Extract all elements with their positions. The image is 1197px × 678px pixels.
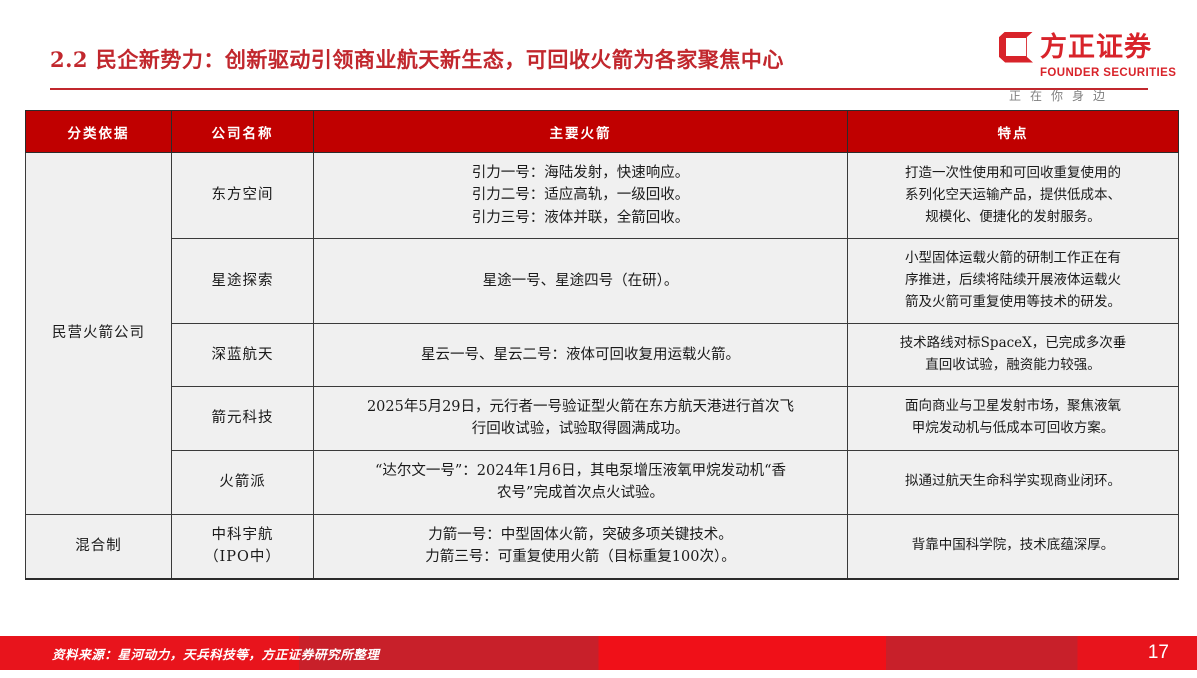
table-row: 火箭派 “达尔文一号”：2024年1月6日，其电泵增压液氧甲烷发动机“香 农号”…	[26, 450, 1179, 514]
feature-line: 拟通过航天生命科学实现商业闭环。	[862, 471, 1164, 493]
feature-line: 规模化、便捷化的发射服务。	[862, 207, 1164, 229]
column-header-category: 分类依据	[26, 111, 172, 153]
feature-line: 面向商业与卫星发射市场，聚焦液氧	[862, 396, 1164, 418]
rockets-cell: 力箭一号：中型固体火箭，突破多项关键技术。 力箭三号：可重复使用火箭（目标重复1…	[314, 514, 848, 578]
rocket-line: 2025年5月29日，元行者一号验证型火箭在东方航天港进行首次飞	[330, 396, 831, 418]
rocket-line: 行回收试验，试验取得圆满成功。	[330, 418, 831, 440]
feature-line: 小型固体运载火箭的研制工作正在有	[862, 248, 1164, 270]
rocket-lines: “达尔文一号”：2024年1月6日，其电泵增压液氧甲烷发动机“香 农号”完成首次…	[330, 460, 831, 505]
rockets-cell: 2025年5月29日，元行者一号验证型火箭在东方航天港进行首次飞 行回收试验，试…	[314, 386, 848, 450]
column-header-features: 特点	[848, 111, 1179, 153]
table-row: 深蓝航天 星云一号、星云二号：液体可回收复用运载火箭。 技术路线对标SpaceX…	[26, 323, 1179, 386]
rocket-lines: 引力一号：海陆发射，快速响应。 引力二号：适应高轨，一级回收。 引力三号：液体并…	[330, 162, 831, 229]
feature-line: 箭及火箭可重复使用等技术的研发。	[862, 292, 1164, 314]
table-row: 箭元科技 2025年5月29日，元行者一号验证型火箭在东方航天港进行首次飞 行回…	[26, 386, 1179, 450]
table-row: 星途探索 星途一号、星途四号（在研）。 小型固体运载火箭的研制工作正在有 序推进…	[26, 239, 1179, 324]
rocket-line: 力箭一号：中型固体火箭，突破多项关键技术。	[330, 524, 831, 546]
features-cell: 背靠中国科学院，技术底蕴深厚。	[848, 514, 1179, 578]
founder-securities-logo: 方正证券 FOUNDER SECURITIES 正在你身边	[999, 30, 1179, 92]
feature-line: 甲烷发动机与低成本可回收方案。	[862, 418, 1164, 440]
company-line: 深蓝航天	[182, 344, 303, 366]
feature-lines: 背靠中国科学院，技术底蕴深厚。	[862, 535, 1164, 557]
category-cell-mixed: 混合制	[26, 514, 172, 578]
feature-line: 系列化空天运输产品，提供低成本、	[862, 185, 1164, 207]
feature-line: 直回收试验，融资能力较强。	[862, 355, 1164, 377]
feature-line: 序推进，后续将陆续开展液体运载火	[862, 270, 1164, 292]
company-line: 箭元科技	[182, 407, 303, 429]
company-cell: 中科宇航 （IPO中）	[172, 514, 314, 578]
feature-lines: 技术路线对标SpaceX，已完成多次垂 直回收试验，融资能力较强。	[862, 333, 1164, 377]
feature-lines: 面向商业与卫星发射市场，聚焦液氧 甲烷发动机与低成本可回收方案。	[862, 396, 1164, 440]
rocket-lines: 星云一号、星云二号：液体可回收复用运载火箭。	[330, 344, 831, 366]
table-header-row: 分类依据 公司名称 主要火箭 特点	[26, 111, 1179, 153]
company-cell: 东方空间	[172, 153, 314, 239]
feature-lines: 小型固体运载火箭的研制工作正在有 序推进，后续将陆续开展液体运载火 箭及火箭可重…	[862, 248, 1164, 314]
page-title: 2.2 民企新势力：创新驱动引领商业航天新生态，可回收火箭为各家聚焦中心	[50, 44, 784, 74]
table-row: 混合制 中科宇航 （IPO中） 力箭一号：中型固体火箭，突破多项关键技术。 力箭…	[26, 514, 1179, 578]
rocket-line: 星途一号、星途四号（在研）。	[330, 270, 831, 292]
company-cell: 星途探索	[172, 239, 314, 324]
features-cell: 技术路线对标SpaceX，已完成多次垂 直回收试验，融资能力较强。	[848, 323, 1179, 386]
rocket-lines: 2025年5月29日，元行者一号验证型火箭在东方航天港进行首次飞 行回收试验，试…	[330, 396, 831, 441]
rocket-line: 引力三号：液体并联，全箭回收。	[330, 207, 831, 229]
feature-line: 打造一次性使用和可回收重复使用的	[862, 163, 1164, 185]
rocket-line: 星云一号、星云二号：液体可回收复用运载火箭。	[330, 344, 831, 366]
company-lines: 箭元科技	[182, 407, 303, 429]
rockets-cell: 引力一号：海陆发射，快速响应。 引力二号：适应高轨，一级回收。 引力三号：液体并…	[314, 153, 848, 239]
logo-name-cn: 方正证券	[1040, 34, 1152, 61]
category-cell-private: 民营火箭公司	[26, 153, 172, 515]
company-line: 中科宇航	[182, 524, 303, 546]
company-cell: 箭元科技	[172, 386, 314, 450]
rocket-line: 农号”完成首次点火试验。	[330, 482, 831, 504]
rocket-line: 力箭三号：可重复使用火箭（目标重复100次）。	[330, 546, 831, 568]
company-lines: 深蓝航天	[182, 344, 303, 366]
company-line: （IPO中）	[182, 546, 303, 568]
features-cell: 小型固体运载火箭的研制工作正在有 序推进，后续将陆续开展液体运载火 箭及火箭可重…	[848, 239, 1179, 324]
feature-lines: 拟通过航天生命科学实现商业闭环。	[862, 471, 1164, 493]
page-number: 17	[1148, 636, 1169, 670]
rockets-cell: “达尔文一号”：2024年1月6日，其电泵增压液氧甲烷发动机“香 农号”完成首次…	[314, 450, 848, 514]
rockets-cell: 星途一号、星途四号（在研）。	[314, 239, 848, 324]
commercial-rocket-companies-table: 分类依据 公司名称 主要火箭 特点 民营火箭公司 东方空间 引力一号：海陆发射，…	[25, 110, 1179, 580]
company-line: 火箭派	[182, 471, 303, 493]
features-cell: 打造一次性使用和可回收重复使用的 系列化空天运输产品，提供低成本、 规模化、便捷…	[848, 153, 1179, 239]
logo-name-en: FOUNDER SECURITIES	[1040, 67, 1179, 79]
company-lines: 东方空间	[182, 184, 303, 206]
company-cell: 深蓝航天	[172, 323, 314, 386]
rocket-line: 引力二号：适应高轨，一级回收。	[330, 184, 831, 206]
footer-bar: 资料来源：星河动力，天兵科技等，方正证券研究所整理 17	[0, 636, 1197, 670]
rocket-line: “达尔文一号”：2024年1月6日，其电泵增压液氧甲烷发动机“香	[330, 460, 831, 482]
rocket-line: 引力一号：海陆发射，快速响应。	[330, 162, 831, 184]
title-underline-rule	[50, 88, 1148, 90]
company-line: 东方空间	[182, 184, 303, 206]
feature-line: 背靠中国科学院，技术底蕴深厚。	[862, 535, 1164, 557]
company-cell: 火箭派	[172, 450, 314, 514]
rocket-lines: 力箭一号：中型固体火箭，突破多项关键技术。 力箭三号：可重复使用火箭（目标重复1…	[330, 524, 831, 569]
rocket-lines: 星途一号、星途四号（在研）。	[330, 270, 831, 292]
table-body: 民营火箭公司 东方空间 引力一号：海陆发射，快速响应。 引力二号：适应高轨，一级…	[26, 153, 1179, 579]
founder-logo-mark-icon	[999, 32, 1033, 63]
logo-primary-row: 方正证券	[999, 30, 1179, 64]
features-cell: 面向商业与卫星发射市场，聚焦液氧 甲烷发动机与低成本可回收方案。	[848, 386, 1179, 450]
feature-line: 技术路线对标SpaceX，已完成多次垂	[862, 333, 1164, 355]
company-lines: 中科宇航 （IPO中）	[182, 524, 303, 569]
features-cell: 拟通过航天生命科学实现商业闭环。	[848, 450, 1179, 514]
company-lines: 火箭派	[182, 471, 303, 493]
company-lines: 星途探索	[182, 270, 303, 292]
logo-tagline: 正在你身边	[1009, 87, 1179, 104]
company-line: 星途探索	[182, 270, 303, 292]
column-header-rockets: 主要火箭	[314, 111, 848, 153]
feature-lines: 打造一次性使用和可回收重复使用的 系列化空天运输产品，提供低成本、 规模化、便捷…	[862, 163, 1164, 229]
rockets-cell: 星云一号、星云二号：液体可回收复用运载火箭。	[314, 323, 848, 386]
table-row: 民营火箭公司 东方空间 引力一号：海陆发射，快速响应。 引力二号：适应高轨，一级…	[26, 153, 1179, 239]
source-note: 资料来源：星河动力，天兵科技等，方正证券研究所整理	[52, 636, 380, 670]
table-header: 分类依据 公司名称 主要火箭 特点	[26, 111, 1179, 153]
column-header-company: 公司名称	[172, 111, 314, 153]
